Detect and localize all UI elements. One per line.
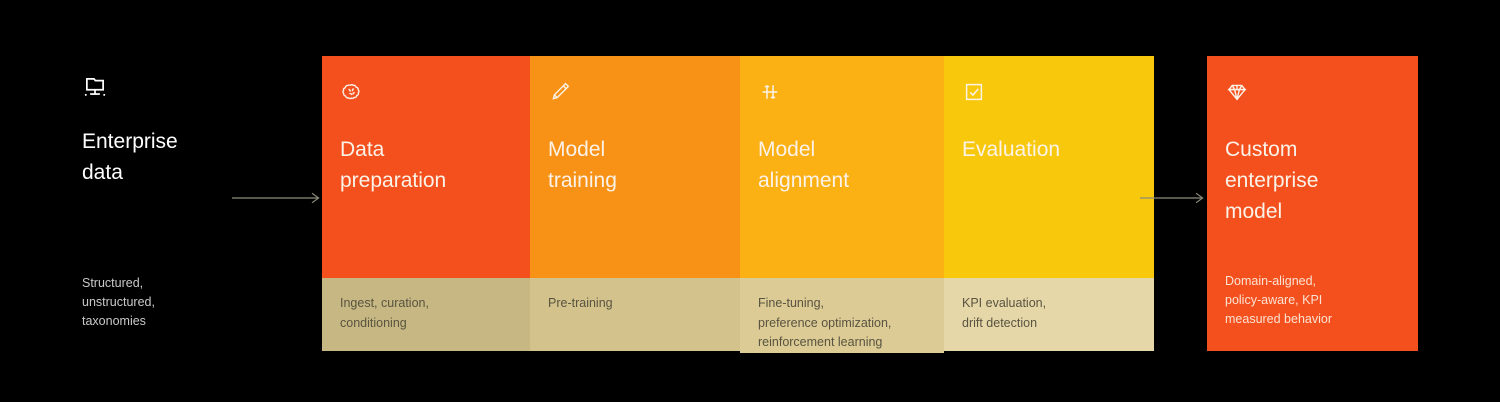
output-subtitle: Domain-aligned, policy-aware, KPI measur… bbox=[1225, 272, 1405, 329]
stage-caption: Ingest, curation, conditioning bbox=[322, 278, 530, 351]
stage-caption: Fine-tuning, preference optimization, re… bbox=[740, 278, 944, 353]
stage-body: Evaluation bbox=[944, 56, 1154, 278]
stage-body: Model alignment bbox=[740, 56, 944, 278]
monitor-data-icon bbox=[82, 74, 108, 100]
stage-model-training[interactable]: Model training Pre-training bbox=[530, 56, 740, 351]
output-card-custom-enterprise-model[interactable]: Custom enterprise model Domain-aligned, … bbox=[1207, 56, 1418, 351]
stage-data-preparation[interactable]: Data preparation Ingest, curation, condi… bbox=[322, 56, 530, 351]
stage-title: Data preparation bbox=[340, 134, 512, 196]
stage-body: Model training bbox=[530, 56, 740, 278]
stage-title: Model alignment bbox=[758, 134, 926, 196]
arrow-input-to-pipeline bbox=[232, 191, 324, 205]
input-title: Enterprise data bbox=[82, 126, 232, 188]
stage-title: Evaluation bbox=[962, 134, 1136, 165]
arrow-pipeline-to-output bbox=[1140, 191, 1208, 205]
diamond-gem-icon bbox=[1225, 80, 1249, 104]
output-title: Custom enterprise model bbox=[1225, 134, 1400, 227]
stage-body: Data preparation bbox=[322, 56, 530, 278]
checkbox-check-icon bbox=[962, 80, 986, 104]
stage-caption: KPI evaluation, drift detection bbox=[944, 278, 1154, 351]
brain-icon bbox=[340, 80, 364, 104]
stage-evaluation[interactable]: Evaluation KPI evaluation, drift detecti… bbox=[944, 56, 1154, 351]
input-subtitle: Structured, unstructured, taxonomies bbox=[82, 274, 242, 331]
sliders-icon bbox=[758, 80, 782, 104]
pipeline-stages: Data preparation Ingest, curation, condi… bbox=[322, 56, 1154, 351]
stage-caption: Pre-training bbox=[530, 278, 740, 351]
pencil-icon bbox=[548, 80, 572, 104]
stage-model-alignment[interactable]: Model alignment Fine-tuning, preference … bbox=[740, 56, 944, 351]
input-column: Enterprise data Structured, unstructured… bbox=[82, 74, 232, 188]
diagram-canvas: Enterprise data Structured, unstructured… bbox=[0, 0, 1500, 402]
stage-title: Model training bbox=[548, 134, 722, 196]
